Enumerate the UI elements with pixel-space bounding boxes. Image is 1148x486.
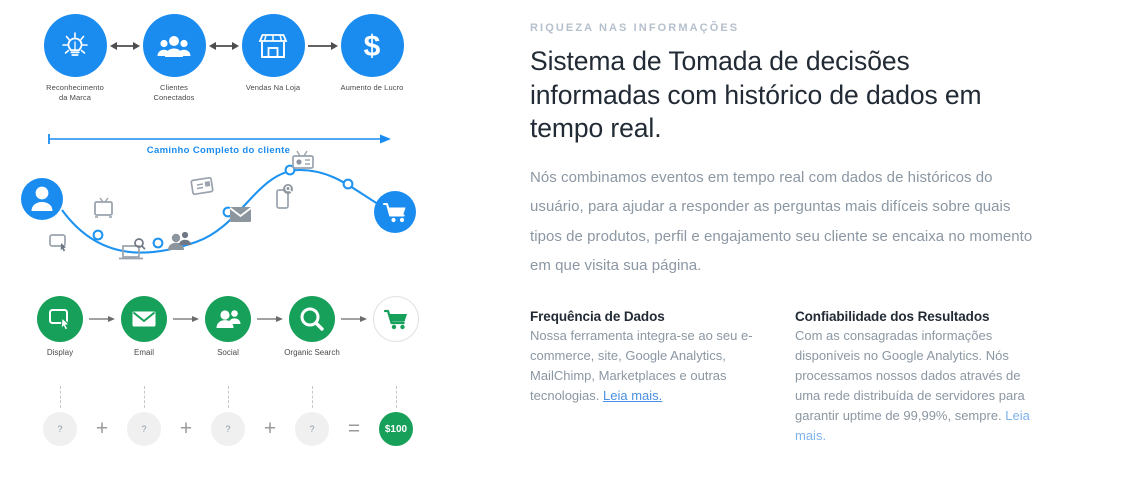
unknown-value-chip: ? — [127, 412, 161, 446]
equation-operator: = — [340, 394, 368, 439]
funnel-node-label: Aumento de Lucro — [339, 83, 405, 93]
user-avatar-icon — [21, 178, 63, 220]
storefront-icon — [242, 14, 305, 77]
display-ad-icon — [37, 296, 83, 342]
feature-column-frequencia: Frequência de Dados Nossa ferramenta int… — [530, 309, 773, 446]
brand-funnel-diagram: Reconhecimento da Marca — [0, 14, 440, 144]
chain-arrow-4 — [340, 296, 368, 342]
equation-term-4: ? — [284, 386, 340, 446]
journey-node — [94, 231, 103, 240]
social-people-icon — [205, 296, 251, 342]
display-ad-icon — [50, 235, 66, 251]
funnel-node-label: Vendas Na Loja — [240, 83, 306, 93]
attribution-equation: ? + ? + ? + ? = — [0, 386, 440, 458]
funnel-arrow-2 — [207, 14, 240, 77]
chain-node-conversion — [368, 296, 424, 348]
chain-node-label: Social — [200, 348, 256, 358]
section-eyebrow: RIQUEZA NAS INFORMAÇÕES — [530, 22, 1040, 34]
unknown-value-chip: ? — [211, 412, 245, 446]
funnel-node-label: Clientes Conectados — [141, 83, 207, 102]
customer-journey-curve — [0, 150, 440, 285]
laptop-search-icon — [119, 239, 145, 259]
dashed-connector — [312, 386, 313, 408]
dollar-sign-icon: $ — [341, 14, 404, 77]
chain-arrow-3 — [256, 296, 284, 342]
journey-node — [154, 239, 163, 248]
funnel-node-label: Reconhecimento da Marca — [42, 83, 108, 102]
feature-body-text: Com as consagradas informações disponíve… — [795, 328, 1025, 423]
dashed-connector — [60, 386, 61, 408]
equation-operator: + — [172, 394, 200, 439]
funnel-node-clientes: Clientes Conectados — [141, 14, 207, 102]
people-group-icon — [143, 14, 206, 77]
funnel-arrow-3 — [306, 14, 339, 77]
illustration-panel: Reconhecimento da Marca — [0, 0, 530, 486]
customer-path-arrow — [46, 132, 391, 144]
chain-arrow-1 — [88, 296, 116, 342]
marketing-feature-section: Reconhecimento da Marca — [0, 0, 1148, 486]
email-icon — [230, 207, 251, 222]
equation-term-2: ? — [116, 386, 172, 446]
chain-node-organic-search: Organic Search — [284, 296, 340, 358]
equation-term-1: ? — [32, 386, 88, 446]
lightbulb-icon — [44, 14, 107, 77]
mobile-search-icon — [277, 184, 293, 208]
chain-arrow-2 — [172, 296, 200, 342]
svg-text:$: $ — [364, 30, 381, 63]
feature-column-confiabilidade: Confiabilidade dos Resultados Com as con… — [795, 309, 1038, 446]
chain-node-label: Display — [32, 348, 88, 358]
news-card-icon — [191, 178, 213, 195]
equation-total: $100 — [368, 386, 424, 446]
tv-icon — [95, 198, 112, 217]
chain-node-display: Display — [32, 296, 88, 358]
funnel-node-reconhecimento: Reconhecimento da Marca — [42, 14, 108, 102]
read-more-link[interactable]: Leia mais. — [603, 388, 662, 403]
dashed-connector — [396, 386, 397, 408]
equation-term-3: ? — [200, 386, 256, 446]
funnel-node-lucro: $ Aumento de Lucro — [339, 14, 405, 93]
dashed-connector — [144, 386, 145, 408]
unknown-value-chip: ? — [43, 412, 77, 446]
content-panel: RIQUEZA NAS INFORMAÇÕES Sistema de Tomad… — [530, 0, 1148, 486]
lede-paragraph: Nós combinamos eventos em tempo real com… — [530, 163, 1040, 281]
total-value-badge: $100 — [379, 412, 413, 446]
feature-body: Nossa ferramenta integra-se ao seu e-com… — [530, 326, 773, 406]
feature-title: Frequência de Dados — [530, 309, 773, 324]
feature-body: Com as consagradas informações disponíve… — [795, 326, 1038, 446]
email-icon — [121, 296, 167, 342]
radio-icon — [293, 151, 313, 168]
chain-node-label: Organic Search — [284, 348, 340, 358]
shopping-cart-icon — [373, 296, 419, 342]
feature-columns: Frequência de Dados Nossa ferramenta int… — [530, 309, 1040, 446]
journey-node — [344, 180, 353, 189]
dashed-connector — [228, 386, 229, 408]
funnel-arrow-1 — [108, 14, 141, 77]
page-title: Sistema de Tomada de decisões informadas… — [530, 45, 1040, 146]
equation-operator: + — [88, 394, 116, 439]
unknown-value-chip: ? — [295, 412, 329, 446]
chain-node-social: Social — [200, 296, 256, 358]
channel-chain-diagram: Display Email — [0, 296, 440, 366]
social-people-icon — [168, 232, 191, 250]
chain-node-label: Email — [116, 348, 172, 358]
chain-node-email: Email — [116, 296, 172, 358]
shopping-cart-icon — [374, 191, 416, 233]
feature-title: Confiabilidade dos Resultados — [795, 309, 1038, 324]
magnifier-icon — [289, 296, 335, 342]
funnel-node-vendas: Vendas Na Loja — [240, 14, 306, 93]
equation-operator: + — [256, 394, 284, 439]
